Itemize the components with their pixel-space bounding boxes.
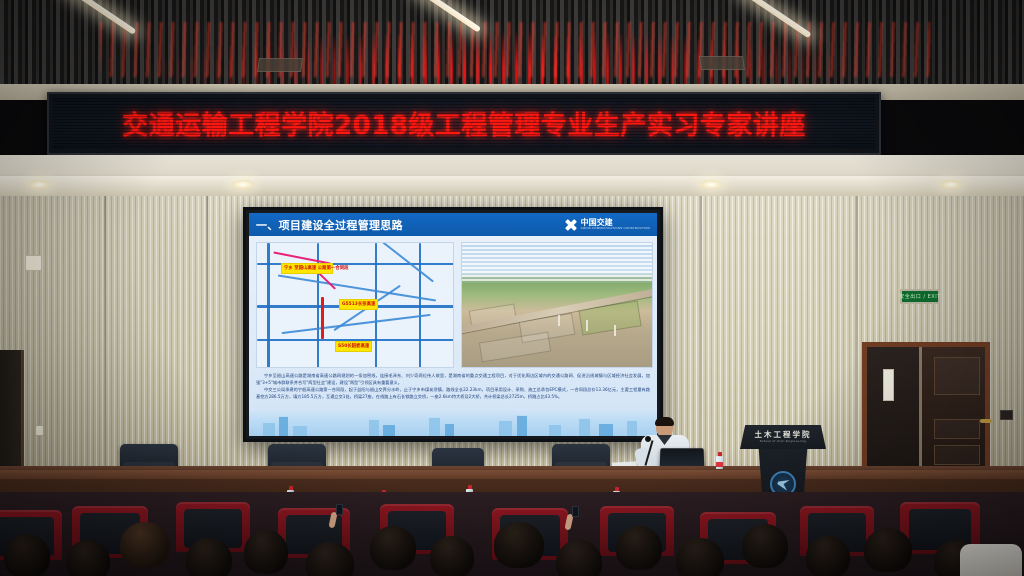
ccc-diamond-logo (565, 218, 578, 231)
phone-icon (336, 504, 343, 515)
lectern-name-en: School of Civil Engineering (740, 439, 826, 443)
water-bottle (716, 452, 723, 469)
downlight-icon (940, 180, 962, 189)
audience-area (0, 492, 1024, 576)
led-banner-screen: 交通运输工程学院2018级工程管理专业生产实习专家讲座 (53, 98, 875, 149)
phone-icon (572, 506, 579, 517)
exit-sign-label: 安全出口 / EXIT (899, 293, 940, 300)
photo-scanline-artifact (462, 243, 652, 283)
led-banner-text: 交通运输工程学院2018级工程管理专业生产实习专家讲座 (122, 105, 806, 142)
skyline-building (263, 422, 275, 436)
slide-paragraph: 中交三公局承建的宁韶高速公路第一合同段，起于益阳与韶山交界分水岭，止于宁乡市煤炭… (256, 387, 650, 400)
map-road (278, 274, 436, 301)
skyline-building (293, 425, 307, 436)
skyline-building (499, 420, 512, 436)
slide-title: 一、项目建设全过程管理思路 (256, 217, 403, 233)
side-door[interactable] (0, 350, 24, 480)
wall-outlet (1000, 410, 1013, 420)
ceiling (0, 0, 1024, 92)
photo-field (479, 332, 551, 363)
audience-head (370, 526, 416, 570)
presentation-slide: 一、项目建设全过程管理思路 中国交建 CHINA COMMUNICATIONS … (249, 213, 657, 436)
downlight-icon (700, 180, 722, 189)
skyline-building (429, 417, 440, 436)
photo-bridge-pier (614, 325, 616, 336)
map-callout-label: 宁乡 至韶山高速 公路第一合同段 (284, 266, 349, 271)
map-callout: G5513长张高速 (339, 299, 378, 310)
audience-head (676, 538, 724, 576)
skyline-building (383, 424, 395, 436)
wall-seam (206, 196, 208, 471)
downlight-icon (28, 180, 50, 189)
door-notice-sticker (883, 369, 894, 401)
audience-head (4, 534, 50, 576)
slide-paragraphs: 宁乡至韶山高速公路是湖南省高速公路网规划的一条加密线，连接毛泽东、刘少奇两位伟人… (256, 373, 650, 415)
skyline-building (279, 416, 288, 436)
skyline-building (579, 418, 590, 436)
led-banner: 交通运输工程学院2018级工程管理专业生产实习专家讲座 (47, 92, 881, 155)
slide-paragraph: 宁乡至韶山高速公路是湖南省高速公路网规划的一条加密线，连接毛泽东、刘少奇两位伟人… (256, 373, 650, 386)
wall-mounted-box (25, 255, 42, 271)
light-switch[interactable] (35, 425, 44, 436)
wall-seam (856, 196, 858, 471)
door-panel (934, 419, 980, 439)
skyline-building (369, 419, 379, 436)
audience-head (806, 536, 850, 576)
auditorium-photo: 交通运输工程学院2018级工程管理专业生产实习专家讲座 安全出口 / EXIT (0, 0, 1024, 576)
door-leaf-left[interactable] (867, 347, 919, 485)
speaker-hair (655, 417, 674, 426)
ceiling-vent (699, 56, 745, 70)
skyline-building (445, 423, 454, 436)
slide-body: 宁乡 至韶山高速 公路第一合同段 G5513长张高速 S50长韶娄高速 (249, 236, 657, 436)
audience-head (120, 522, 170, 568)
skyline-building (599, 423, 613, 436)
audience-head (742, 524, 788, 568)
ceiling-vent (257, 58, 303, 72)
audience-head (430, 536, 474, 576)
audience-head (66, 540, 110, 576)
route-map: 宁乡 至韶山高速 公路第一合同段 G5513长张高速 S50长韶娄高速 (256, 242, 454, 368)
skyline-building (517, 415, 527, 436)
slide-footer-skyline (249, 410, 657, 436)
map-callout-label: S50长韶娄高速 (338, 344, 369, 349)
aerial-construction-photo (461, 242, 653, 368)
microphone-head (645, 436, 651, 442)
wall-seam (700, 196, 702, 471)
audience-head (244, 530, 288, 574)
map-callout-label: G5513长张高速 (342, 302, 375, 307)
audience-head (616, 526, 662, 570)
slide-header: 一、项目建设全过程管理思路 中国交建 CHINA COMMUNICATIONS … (249, 213, 657, 236)
exit-sign: 安全出口 / EXIT (900, 289, 940, 304)
projection-screen: 一、项目建设全过程管理思路 中国交建 CHINA COMMUNICATIONS … (243, 207, 663, 442)
company-brand: 中国交建 CHINA COMMUNICATIONS CONSTRUCTION (565, 218, 650, 231)
door-leaf-right[interactable] (919, 347, 985, 485)
audience-head (186, 538, 232, 576)
door-handle[interactable] (980, 419, 992, 423)
door-panel (934, 445, 980, 465)
brand-text: 中国交建 CHINA COMMUNICATIONS CONSTRUCTION (581, 219, 650, 230)
map-callout: S50长韶娄高速 (335, 341, 372, 352)
audience-person-white-shirt (960, 544, 1022, 576)
skyline-building (549, 424, 561, 436)
wall-seam (104, 196, 106, 471)
door-panel (934, 357, 980, 395)
map-road (281, 314, 430, 334)
audience-head (864, 528, 912, 572)
map-callout: 宁乡 至韶山高速 公路第一合同段 (281, 263, 333, 274)
downlight-icon (232, 180, 254, 189)
photo-bridge-pier (558, 315, 560, 326)
audience-head (556, 540, 602, 576)
brand-name-en: CHINA COMMUNICATIONS CONSTRUCTION (581, 227, 650, 230)
map-project-route (321, 297, 324, 339)
ceiling-cornice (0, 176, 1024, 196)
lectern-top: 土木工程学院 School of Civil Engineering (740, 425, 826, 449)
photo-bridge-pier (586, 320, 588, 331)
audience-head (494, 522, 544, 568)
